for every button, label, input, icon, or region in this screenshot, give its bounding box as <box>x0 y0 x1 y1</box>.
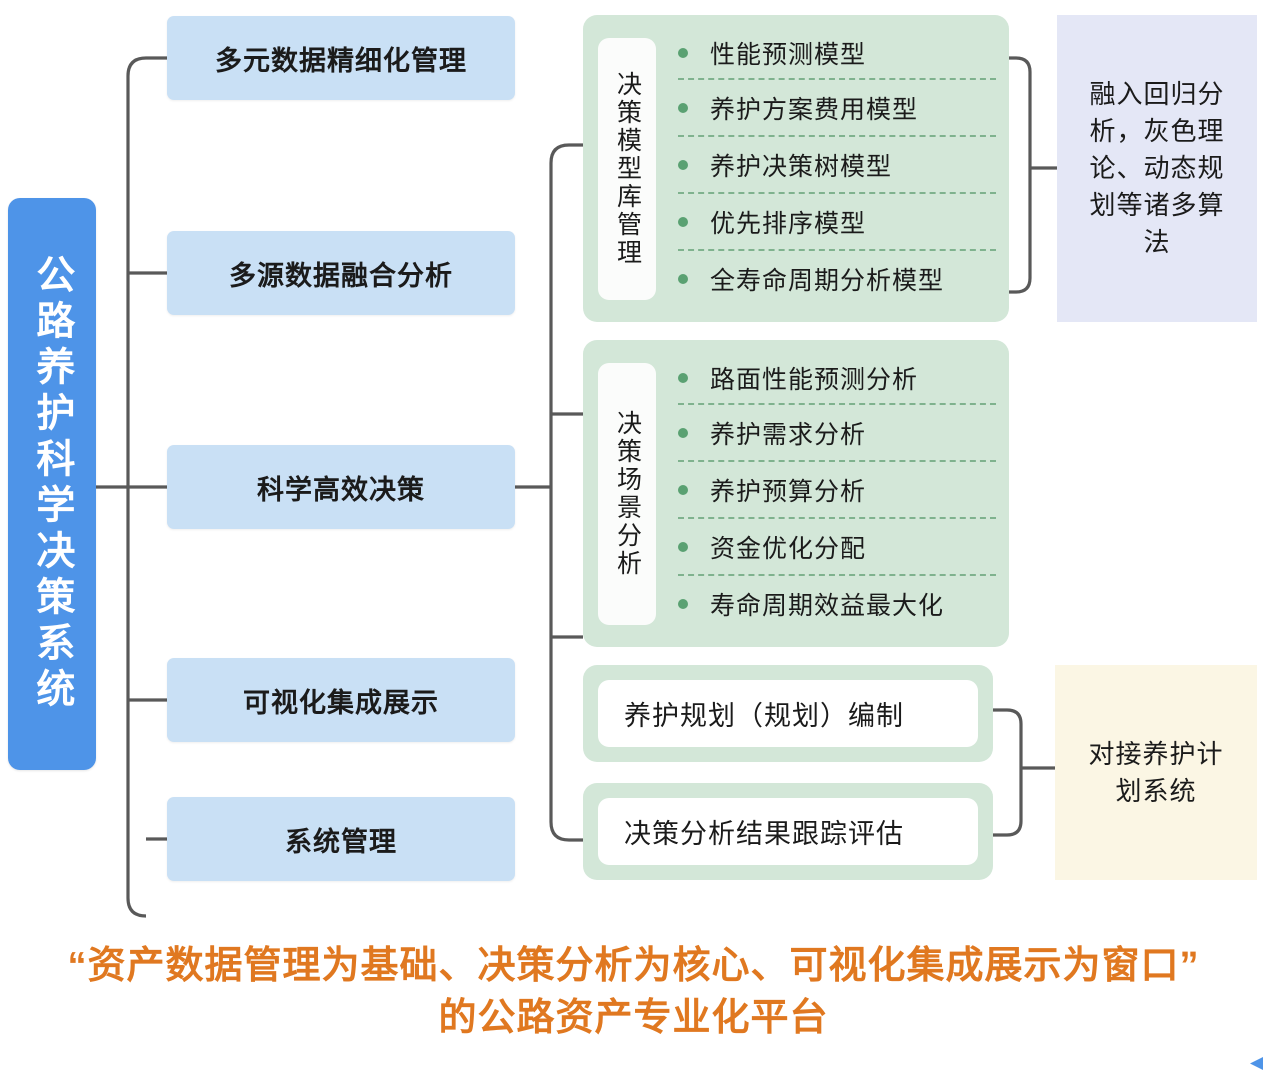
group-panel-model-library: 决策模型库管理 性能预测模型 养护方案费用模型 养护决策树模型 优先排序模型 <box>583 15 1009 322</box>
level2-label: 系统管理 <box>285 820 397 859</box>
bullet-icon <box>678 373 688 383</box>
list-item[interactable]: 路面性能预测分析 <box>678 352 996 403</box>
bullet-icon <box>678 274 688 284</box>
caption-line-1: “资产数据管理为基础、决策分析为核心、可视化集成展示为窗口” <box>0 940 1267 992</box>
list-item-label: 优先排序模型 <box>710 204 866 240</box>
group-label-text: 决策场景分析 <box>615 410 640 578</box>
plain-box-plan-compile[interactable]: 养护规划（规划）编制 <box>598 680 978 747</box>
list-item-label: 养护决策树模型 <box>710 147 892 183</box>
level2-box-visualization[interactable]: 可视化集成展示 <box>167 658 515 742</box>
group-vertical-label-scenario-analysis: 决策场景分析 <box>598 363 656 625</box>
level2-box-system-admin[interactable]: 系统管理 <box>167 797 515 881</box>
group-panel-result-tracking: 决策分析结果跟踪评估 <box>583 783 993 880</box>
note-label: 对接养护计划系统 <box>1077 736 1235 810</box>
list-item-label: 养护预算分析 <box>710 472 866 508</box>
bullet-icon <box>678 217 688 227</box>
bullet-icon <box>678 542 688 552</box>
list-item-label: 资金优化分配 <box>710 529 866 565</box>
note-label: 融入回归分析，灰色理论、动态规划等诸多算法 <box>1077 76 1237 261</box>
note-box-plan-system[interactable]: 对接养护计划系统 <box>1055 665 1257 880</box>
plain-box-label: 养护规划（规划）编制 <box>624 694 904 733</box>
list-item-label: 养护需求分析 <box>710 415 866 451</box>
list-item[interactable]: 资金优化分配 <box>678 519 996 574</box>
bullet-icon <box>678 103 688 113</box>
group-vertical-label-model-library: 决策模型库管理 <box>598 38 656 300</box>
bullet-icon <box>678 48 688 58</box>
level2-label: 可视化集成展示 <box>243 681 439 720</box>
group-panel-scenario-analysis: 决策场景分析 路面性能预测分析 养护需求分析 养护预算分析 资金优化分配 <box>583 340 1009 647</box>
note-box-algorithms[interactable]: 融入回归分析，灰色理论、动态规划等诸多算法 <box>1057 15 1257 322</box>
list-item-label: 性能预测模型 <box>710 35 866 71</box>
caption: “资产数据管理为基础、决策分析为核心、可视化集成展示为窗口” 的公路资产专业化平… <box>0 940 1267 1045</box>
list-item[interactable]: 性能预测模型 <box>678 27 996 78</box>
group-label-text: 决策模型库管理 <box>615 71 640 267</box>
list-item-label: 全寿命周期分析模型 <box>710 261 944 297</box>
level2-box-data-fusion[interactable]: 多源数据融合分析 <box>167 231 515 315</box>
level2-label: 科学高效决策 <box>257 468 425 507</box>
corner-marker-icon <box>1250 1057 1263 1070</box>
bullet-icon <box>678 160 688 170</box>
level2-box-decision[interactable]: 科学高效决策 <box>167 445 515 529</box>
list-item[interactable]: 养护决策树模型 <box>678 137 996 192</box>
list-item-label: 寿命周期效益最大化 <box>710 586 944 622</box>
group-panel-plan-compile: 养护规划（规划）编制 <box>583 665 993 762</box>
plain-box-label: 决策分析结果跟踪评估 <box>624 812 904 851</box>
level2-label: 多源数据融合分析 <box>229 254 453 293</box>
list-item[interactable]: 寿命周期效益最大化 <box>678 576 996 631</box>
list-item[interactable]: 养护预算分析 <box>678 462 996 517</box>
bullet-icon <box>678 428 688 438</box>
plain-box-result-tracking[interactable]: 决策分析结果跟踪评估 <box>598 798 978 865</box>
list-item[interactable]: 优先排序模型 <box>678 194 996 249</box>
list-item[interactable]: 养护方案费用模型 <box>678 80 996 135</box>
level2-label: 多元数据精细化管理 <box>215 39 467 78</box>
bullet-icon <box>678 485 688 495</box>
root-node[interactable]: 公路养护科学决策系统 <box>8 198 96 770</box>
list-item[interactable]: 养护需求分析 <box>678 405 996 460</box>
root-node-label: 公路养护科学决策系统 <box>32 254 72 714</box>
caption-line-2: 的公路资产专业化平台 <box>0 992 1267 1044</box>
diagram-canvas: 公路养护科学决策系统 多元数据精细化管理 多源数据融合分析 科学高效决策 可视化… <box>0 0 1267 1080</box>
bullet-icon <box>678 599 688 609</box>
list-item[interactable]: 全寿命周期分析模型 <box>678 251 996 306</box>
level2-box-data-management[interactable]: 多元数据精细化管理 <box>167 16 515 100</box>
list-item-label: 养护方案费用模型 <box>710 90 918 126</box>
list-item-label: 路面性能预测分析 <box>710 360 918 396</box>
